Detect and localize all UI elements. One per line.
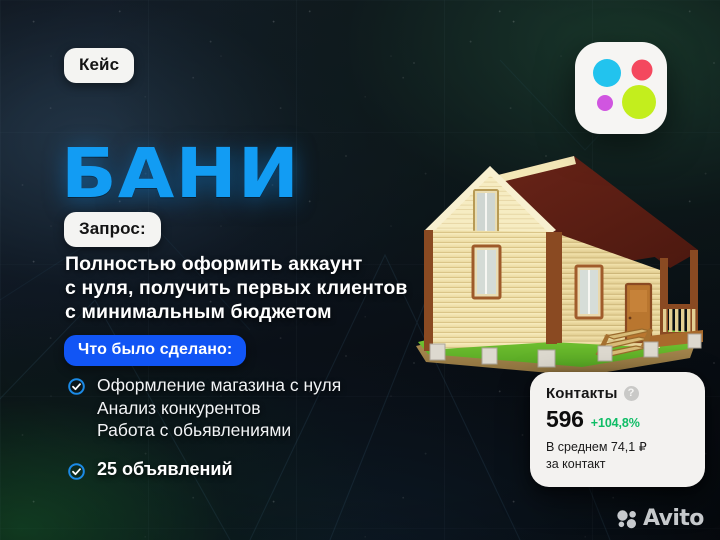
cost-per-contact-note: В среднем 74,1 ₽ за контакт — [546, 439, 691, 472]
contacts-value: 596 — [546, 406, 584, 433]
badge-what-was-done: Что было сделано: — [64, 335, 246, 366]
card-figures: 596 +104,8% — [546, 406, 691, 433]
list-item: Оформление магазина с нуля Анализ конкур… — [68, 374, 408, 442]
avito-app-icon[interactable] — [573, 40, 669, 136]
contacts-delta-badge: +104,8% — [591, 416, 640, 430]
result-line-1: Оформление магазина с нуля — [97, 374, 341, 397]
results-list: Оформление магазина с нуля Анализ конкур… — [68, 374, 408, 484]
request-description: Полностью оформить аккаунт с нуля, получ… — [65, 252, 425, 324]
cost-note-line-2: за контакт — [546, 456, 691, 473]
cost-note-line-1: В среднем 74,1 ₽ — [546, 439, 691, 456]
badge-request: Запрос: — [64, 212, 161, 247]
list-item: 25 объявлений — [68, 459, 408, 480]
card-title: Контакты — [546, 385, 618, 402]
question-mark-icon[interactable]: ? — [624, 386, 639, 401]
content-column: Кейс БАНИ Запрос: Полностью оформить акк… — [64, 0, 464, 540]
avito-dots-logo-icon — [616, 509, 638, 529]
result-line-2: Анализ конкурентов — [97, 397, 341, 420]
result-line-3: Работа с обьявлениями — [97, 419, 341, 442]
request-line-2: с нуля, получить первых клиентов — [65, 276, 425, 300]
result-highlight: 25 объявлений — [97, 459, 233, 480]
card-header: Контакты ? — [546, 385, 691, 402]
check-circle-icon — [68, 463, 85, 480]
request-line-1: Полностью оформить аккаунт — [65, 252, 425, 276]
badge-case: Кейс — [64, 48, 134, 83]
contacts-stats-card[interactable]: Контакты ? 596 +104,8% В среднем 74,1 ₽ … — [530, 372, 705, 487]
check-circle-icon — [68, 378, 85, 395]
avito-logo: Avito — [616, 506, 704, 531]
page-title: БАНИ — [61, 141, 300, 209]
promo-banner: Кейс БАНИ Запрос: Полностью оформить акк… — [0, 0, 720, 540]
list-item-text: Оформление магазина с нуля Анализ конкур… — [97, 374, 341, 442]
request-line-3: с минимальным бюджетом — [65, 300, 425, 324]
avito-wordmark: Avito — [643, 506, 704, 531]
